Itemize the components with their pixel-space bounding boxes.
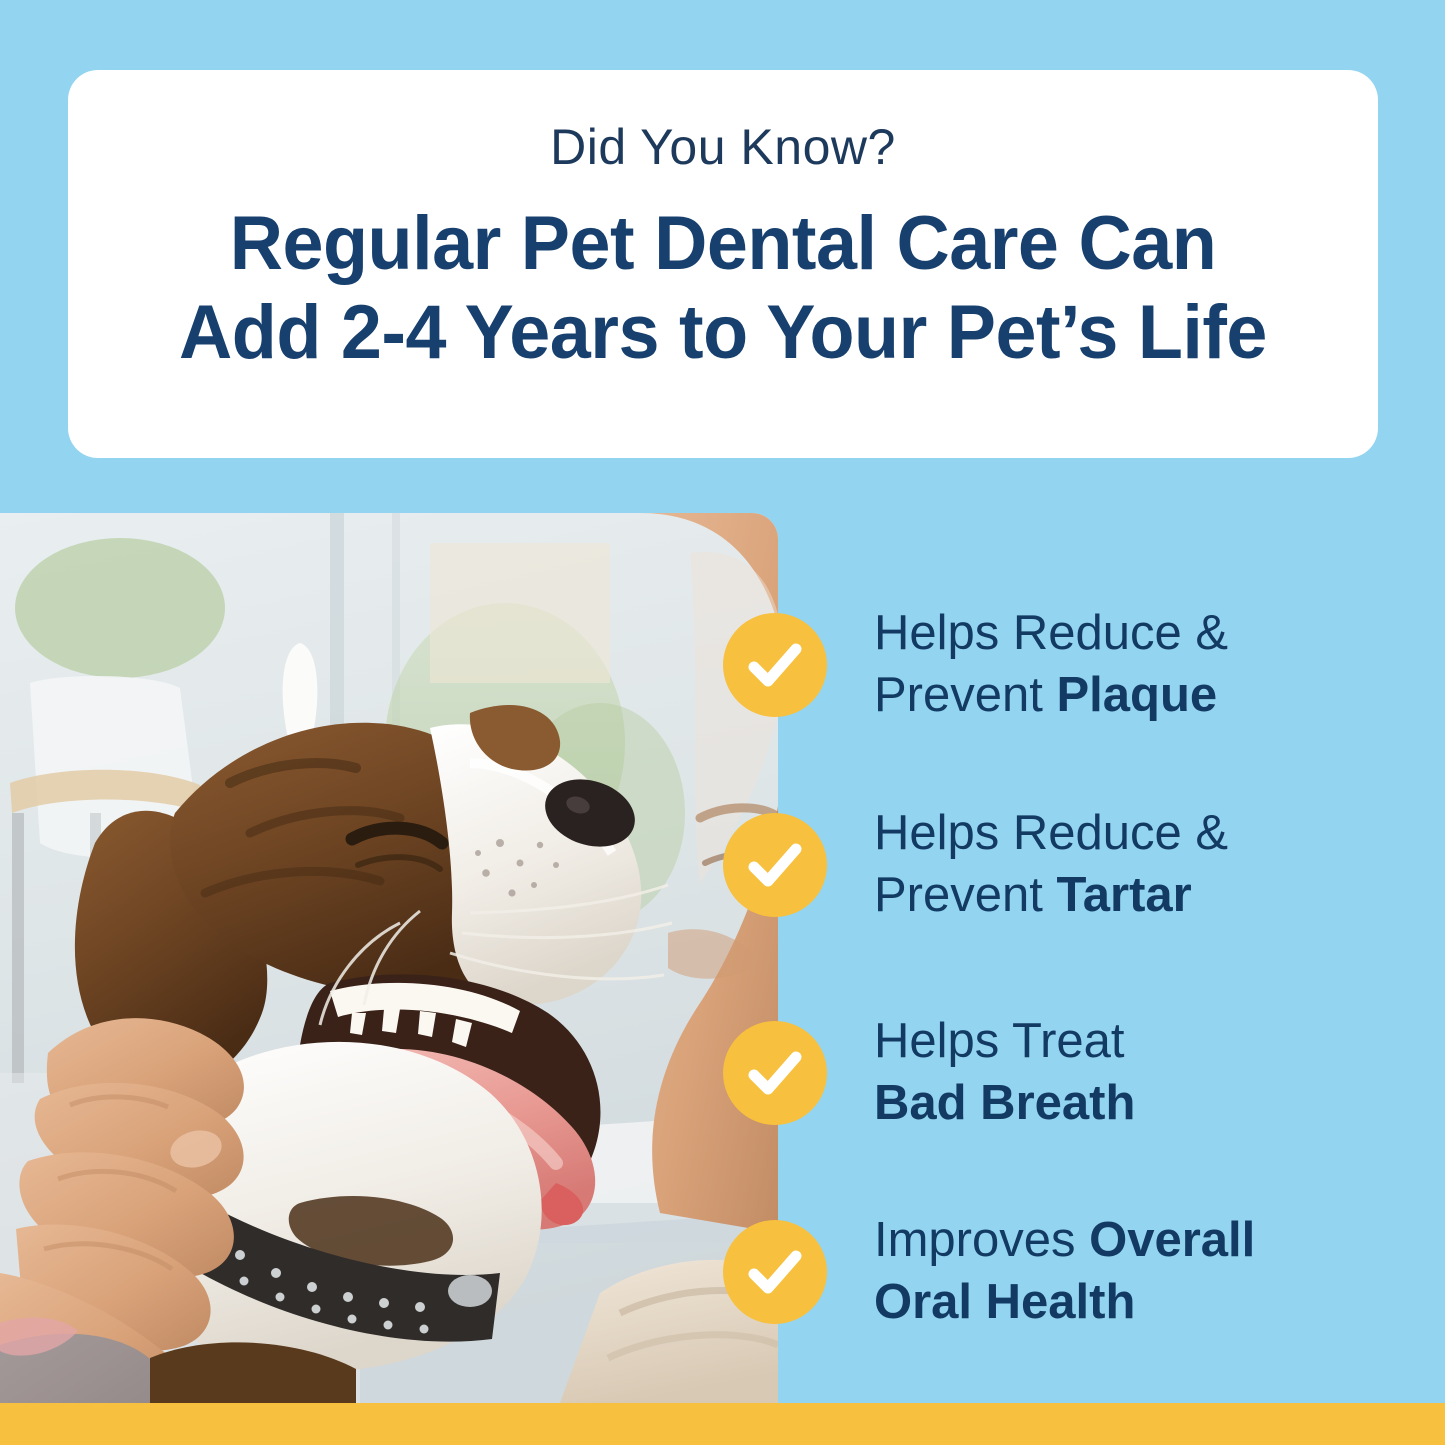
benefit-line-1-plain: Improves: [874, 1213, 1089, 1267]
check-circle-icon: [723, 813, 827, 917]
benefit-line-2-bold: Bad Breath: [874, 1076, 1135, 1130]
benefit-line-2-bold: Tartar: [1056, 868, 1191, 922]
benefit-text: Helps Reduce & Prevent Tartar: [874, 803, 1228, 926]
list-item: Improves Overall Oral Health: [723, 1210, 1255, 1333]
benefit-line-1-bold: Overall: [1089, 1213, 1255, 1267]
page-title: Regular Pet Dental Care Can Add 2-4 Year…: [126, 200, 1319, 378]
benefit-line-2-plain: Prevent: [874, 668, 1056, 722]
benefit-line-2: Prevent Plaque: [874, 665, 1228, 727]
hero-card: Did You Know? Regular Pet Dental Care Ca…: [68, 70, 1378, 458]
benefit-line-1: Improves Overall: [874, 1210, 1255, 1272]
list-item: Helps Treat Bad Breath: [723, 1011, 1135, 1134]
benefit-line-2-plain: Prevent: [874, 868, 1056, 922]
yellow-footer-band: [0, 1403, 1445, 1445]
check-circle-icon: [723, 1021, 827, 1125]
dog-photo: [0, 513, 778, 1403]
benefit-text: Helps Reduce & Prevent Plaque: [874, 603, 1228, 726]
benefit-line-2: Prevent Tartar: [874, 865, 1228, 927]
headline-line-2: Add 2-4 Years to Your Pet’s Life: [126, 289, 1319, 378]
eyebrow-text: Did You Know?: [550, 122, 896, 172]
benefit-line-2: Bad Breath: [874, 1073, 1135, 1135]
list-item: Helps Reduce & Prevent Tartar: [723, 803, 1228, 926]
check-circle-icon: [723, 1220, 827, 1324]
benefits-list: Helps Reduce & Prevent Plaque Helps Redu…: [723, 555, 1363, 1385]
check-circle-icon: [723, 613, 827, 717]
headline-line-1: Regular Pet Dental Care Can: [126, 200, 1319, 289]
benefit-line-1: Helps Reduce &: [874, 803, 1228, 865]
benefit-line-2-bold: Oral Health: [874, 1275, 1135, 1329]
benefit-line-1: Helps Treat: [874, 1011, 1135, 1073]
benefit-line-1: Helps Reduce &: [874, 603, 1228, 665]
list-item: Helps Reduce & Prevent Plaque: [723, 603, 1228, 726]
benefit-text: Helps Treat Bad Breath: [874, 1011, 1135, 1134]
benefit-line-2-bold: Plaque: [1056, 668, 1217, 722]
benefit-line-2: Oral Health: [874, 1272, 1255, 1334]
benefit-text: Improves Overall Oral Health: [874, 1210, 1255, 1333]
